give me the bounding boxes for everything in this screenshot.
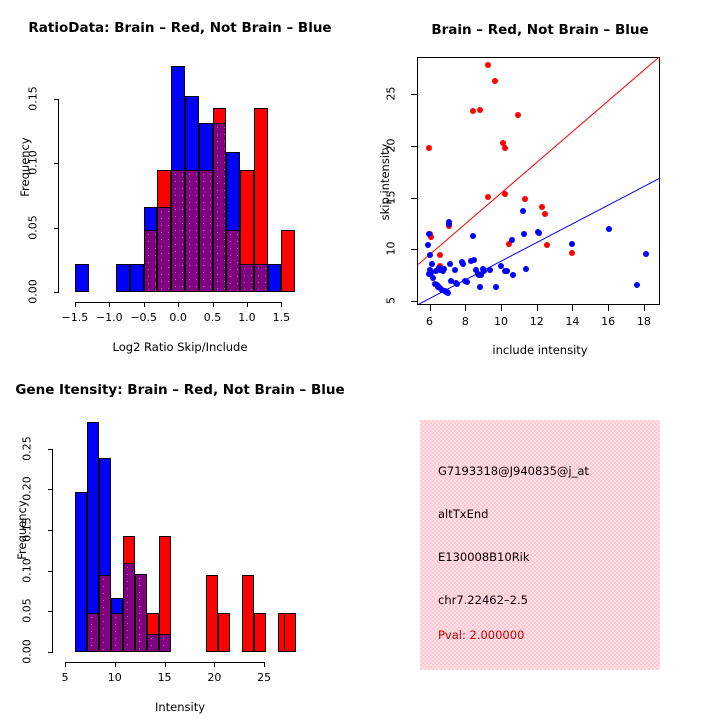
y-axis-tick xyxy=(48,449,53,450)
info-event-type: altTxEnd xyxy=(438,507,488,521)
scatter-title: Brain – Red, Not Brain – Blue xyxy=(360,22,720,38)
y-axis-tick-label: 15 xyxy=(385,181,398,213)
histogram-bar xyxy=(75,492,87,652)
x-axis-tick xyxy=(465,305,466,311)
y-axis-tick-label: 0.00 xyxy=(27,275,40,309)
scatter-point xyxy=(521,231,527,237)
scatter-point xyxy=(447,261,453,267)
x-axis-tick-label: 8 xyxy=(445,315,485,328)
scatter-point xyxy=(502,145,508,151)
scatter-point xyxy=(606,226,612,232)
scatter-point xyxy=(504,268,510,274)
scatter-point xyxy=(569,241,575,247)
scatter-point xyxy=(539,204,545,210)
x-axis-tick xyxy=(165,662,166,667)
y-axis-tick xyxy=(48,652,53,653)
x-axis-tick-label: 18 xyxy=(624,315,664,328)
y-axis-line xyxy=(52,449,53,652)
scatter-point xyxy=(536,230,542,236)
x-axis-tick xyxy=(115,662,116,667)
scatter-point xyxy=(493,284,499,290)
x-axis-tick-label: 5 xyxy=(43,671,87,684)
y-axis-tick xyxy=(411,249,417,250)
histogram-bar-overlap xyxy=(123,563,135,652)
y-axis-tick xyxy=(54,292,59,293)
x-axis-tick-label: 25 xyxy=(242,671,286,684)
histogram-bar-overlap xyxy=(87,613,99,652)
x-axis-tick xyxy=(109,302,110,307)
x-axis-tick xyxy=(572,305,573,311)
info-locus: chr7.22462–2.5 xyxy=(438,593,528,607)
info-gene-symbol: E130008B10Rik xyxy=(438,550,530,564)
histogram-bar-overlap xyxy=(240,264,254,292)
x-axis-tick-label: 1.5 xyxy=(259,311,303,324)
histogram-bar xyxy=(75,264,89,292)
y-axis-line xyxy=(58,99,59,292)
gene-histogram-x-axis-title: Intensity xyxy=(0,700,360,714)
histogram-bar-overlap xyxy=(99,575,111,652)
scatter-point xyxy=(481,268,487,274)
x-axis-tick xyxy=(281,302,282,307)
x-axis-tick xyxy=(501,305,502,311)
scatter-point xyxy=(445,290,451,296)
y-axis-tick xyxy=(411,198,417,199)
ratio-histogram-x-axis-title: Log2 Ratio Skip/Include xyxy=(0,340,360,354)
y-axis-tick xyxy=(54,228,59,229)
histogram-bar-overlap xyxy=(185,170,199,292)
histogram-bar-overlap xyxy=(159,634,171,652)
scatter-point xyxy=(471,257,477,263)
gene-histogram-y-axis-title: Frequency xyxy=(15,450,29,610)
y-axis-tick xyxy=(54,99,59,100)
panel-gene-intensity-histogram: Gene Itensity: Brain – Red, Not Brain – … xyxy=(0,360,360,720)
histogram-bar xyxy=(206,575,218,652)
scatter-point xyxy=(427,252,433,258)
histogram-bar xyxy=(284,613,296,652)
scatter-point xyxy=(544,242,550,248)
info-probe-id: G7193318@J940835@j_at xyxy=(438,464,589,478)
x-axis-tick-label: 20 xyxy=(192,671,236,684)
info-pval: Pval: 2.000000 xyxy=(438,628,524,642)
scatter-point xyxy=(430,275,436,281)
scatter-point xyxy=(520,208,526,214)
histogram-bar-overlap xyxy=(171,170,185,292)
ratio-histogram-y-axis-title: Frequency xyxy=(18,87,32,247)
x-axis-tick xyxy=(608,305,609,311)
y-axis-tick-label: 0.00 xyxy=(21,635,34,669)
x-axis-tick xyxy=(65,662,66,667)
x-axis-tick xyxy=(213,302,214,307)
scatter-point xyxy=(470,108,476,114)
y-axis-tick xyxy=(48,611,53,612)
scatter-point xyxy=(454,281,460,287)
histogram-bar-overlap xyxy=(199,170,213,292)
scatter-point xyxy=(523,266,529,272)
x-axis-tick xyxy=(144,302,145,307)
y-axis-tick xyxy=(48,530,53,531)
histogram-bar-overlap xyxy=(213,123,227,292)
x-axis-tick xyxy=(247,302,248,307)
scatter-point xyxy=(569,250,575,256)
histogram-bar-overlap xyxy=(144,230,158,292)
scatter-point xyxy=(510,272,516,278)
scatter-point xyxy=(485,194,491,200)
x-axis-tick-label: 12 xyxy=(517,315,557,328)
scatter-point xyxy=(485,62,491,68)
histogram-bar-overlap xyxy=(147,634,159,652)
scatter-point xyxy=(470,233,476,239)
y-axis-tick xyxy=(54,163,59,164)
scatter-point xyxy=(464,279,470,285)
histogram-bar-overlap xyxy=(226,230,240,292)
y-axis-tick xyxy=(48,489,53,490)
figure-canvas: RatioData: Brain – Red, Not Brain – Blue… xyxy=(0,0,720,720)
x-axis-tick xyxy=(537,305,538,311)
y-axis-tick-label: 25 xyxy=(385,78,398,110)
scatter-point xyxy=(426,145,432,151)
panel-ratio-histogram: RatioData: Brain – Red, Not Brain – Blue… xyxy=(0,0,360,360)
y-axis-tick xyxy=(48,571,53,572)
histogram-bar-overlap xyxy=(111,613,123,652)
scatter-point xyxy=(487,267,493,273)
x-axis-tick xyxy=(264,662,265,667)
x-axis-tick-label: 6 xyxy=(410,315,450,328)
histogram-bar-overlap xyxy=(157,207,171,292)
scatter-point xyxy=(477,107,483,113)
scatter-point xyxy=(425,242,431,248)
x-axis-tick-label: 15 xyxy=(143,671,187,684)
y-axis-tick xyxy=(411,94,417,95)
scatter-point xyxy=(426,231,432,237)
histogram-bar xyxy=(268,264,282,292)
histogram-bar-overlap xyxy=(254,264,268,292)
scatter-point xyxy=(522,196,528,202)
scatter-point xyxy=(437,252,443,258)
histogram-bar xyxy=(130,264,144,292)
panel-intensity-scatter: Brain – Red, Not Brain – Blue include in… xyxy=(360,0,720,360)
gene-histogram-plot-area: 0.000.050.100.150.200.25510152025 xyxy=(0,360,360,720)
scatter-point xyxy=(542,211,548,217)
x-axis-tick xyxy=(644,305,645,311)
scatter-clip xyxy=(417,57,660,305)
scatter-point xyxy=(643,251,649,257)
scatter-point xyxy=(441,266,447,272)
scatter-point xyxy=(460,261,466,267)
histogram-bar xyxy=(218,613,230,652)
x-axis-tick-label: 10 xyxy=(93,671,137,684)
scatter-point xyxy=(634,282,640,288)
y-axis-tick-label: 20 xyxy=(385,129,398,161)
x-axis-tick-label: 14 xyxy=(552,315,592,328)
histogram-bar xyxy=(254,613,266,652)
scatter-point xyxy=(452,267,458,273)
x-axis-tick xyxy=(75,302,76,307)
y-axis-tick xyxy=(411,146,417,147)
y-axis-tick-label: 5 xyxy=(385,284,398,316)
ratio-histogram-plot-area: 0.000.050.100.15−1.5−1.0−0.50.00.51.01.5 xyxy=(0,0,360,360)
histogram-bar-overlap xyxy=(135,574,147,652)
scatter-point xyxy=(477,284,483,290)
x-axis-tick-label: 10 xyxy=(481,315,521,328)
y-axis-tick-label: 10 xyxy=(385,233,398,265)
histogram-bar xyxy=(116,264,130,292)
x-axis-tick xyxy=(430,305,431,311)
panel-gene-info: G7193318@J940835@j_at altTxEnd E130008B1… xyxy=(420,420,660,670)
x-axis-tick xyxy=(178,302,179,307)
scatter-point xyxy=(515,112,521,118)
scatter-x-axis-title: include intensity xyxy=(360,343,720,357)
scatter-point xyxy=(492,78,498,84)
scatter-point xyxy=(502,191,508,197)
histogram-bar xyxy=(242,575,254,652)
y-axis-tick xyxy=(411,301,417,302)
x-axis-tick-label: 16 xyxy=(588,315,628,328)
histogram-bar xyxy=(281,230,295,292)
x-axis-tick xyxy=(214,662,215,667)
scatter-point xyxy=(429,261,435,267)
scatter-point xyxy=(509,237,515,243)
